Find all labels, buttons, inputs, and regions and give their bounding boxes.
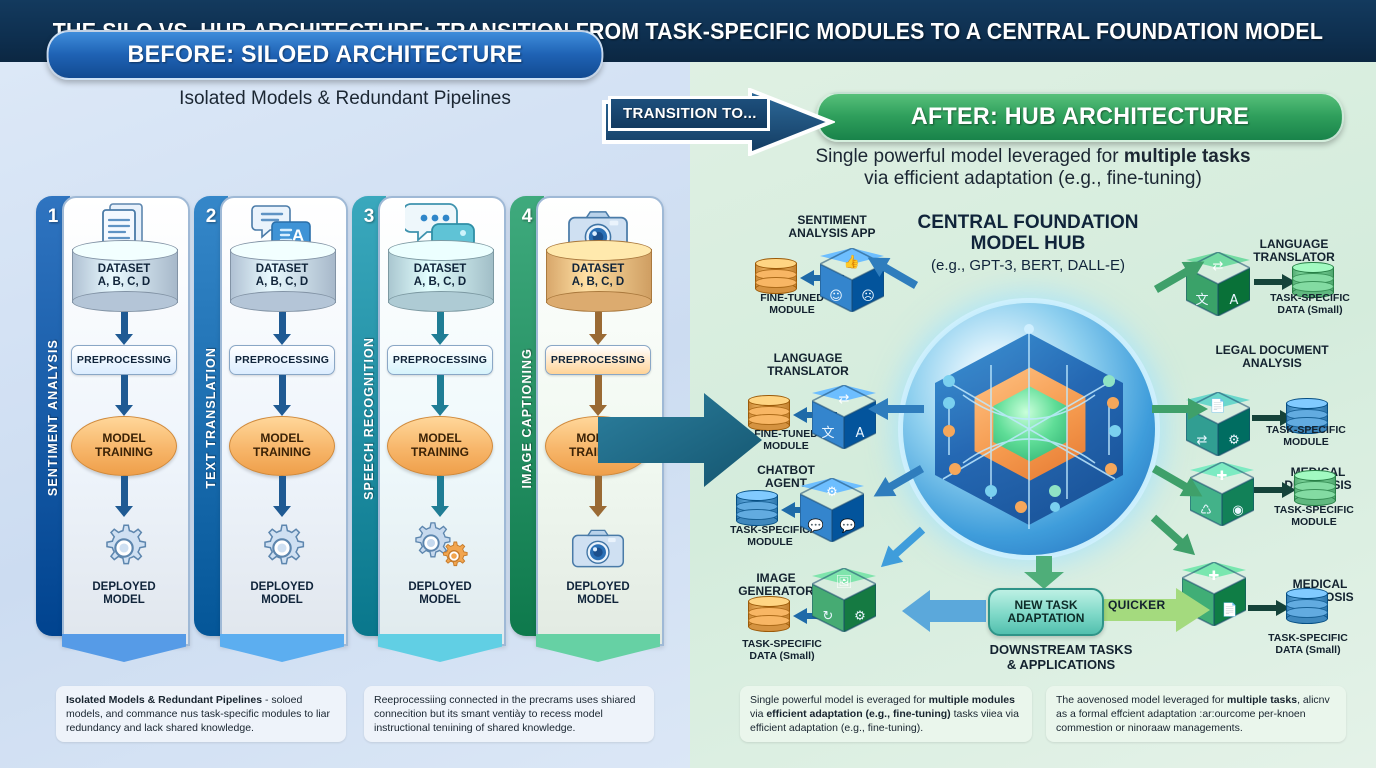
svg-text:⇄: ⇄ [1197, 433, 1208, 448]
task-artifact-cylinder-wrap [748, 596, 788, 632]
hub-subtitle: (e.g., GPT-3, BERT, DALL-E) [931, 257, 1125, 274]
task-caption-label: TASK-SPECIFICDATA (Small) [1252, 292, 1368, 316]
after-subtitle-line1a: Single powerful model leveraged for [815, 146, 1123, 167]
hub-radiating-arrow-6 [1152, 396, 1210, 422]
silo-vertical-label: TEXT TRANSLATION [204, 343, 218, 489]
svg-text:📄: 📄 [1222, 602, 1238, 618]
caption-bold: multiple tasks [1227, 694, 1297, 706]
hub-title-line1: CENTRAL FOUNDATION [918, 212, 1139, 233]
task-name-label: LEGAL DOCUMENT ANALYSIS [1212, 344, 1332, 371]
task-caption-label: TASK-SPECIFICMODULE [1256, 504, 1372, 528]
infographic-page: THE SILO VS. HUB ARCHITECTURE: TRANSITIO… [0, 0, 1376, 768]
task-cube-wrap: ⚙ 💬 💬 [800, 478, 864, 542]
task-name-label: LANGUAGE TRANSLATOR [748, 352, 868, 379]
svg-text:↻: ↻ [823, 609, 834, 624]
new-task-adaptation-box[interactable]: NEW TASK ADAPTATION [988, 588, 1104, 636]
task-name-label: SENTIMENT ANALYSIS APP [772, 214, 892, 241]
adaptation-down-arrow [1022, 556, 1066, 590]
task-caption-label: TASK-SPECIFICMODULE [1248, 424, 1364, 448]
after-subtitle-line2: via efficient adaptation (e.g., fine-tun… [690, 168, 1376, 190]
svg-text:👍: 👍 [844, 254, 860, 270]
chatbot-cube-icon[interactable]: ⚙ 💬 💬 [800, 478, 864, 542]
after-header-pill: AFTER: HUB ARCHITECTURE [816, 92, 1344, 142]
central-foundation-model-hub-icon[interactable] [903, 303, 1155, 555]
before-subtitle: Isolated Models & Redundant Pipelines [0, 88, 690, 110]
caption-bold: efficient adaptation (e.g., fine-tuning) [766, 708, 950, 720]
before-subtitle-text: Isolated Models & Redundant Pipelines [179, 88, 511, 109]
caption-bold: multiple modules [929, 694, 1015, 706]
svg-text:🖼: 🖼 [836, 575, 853, 590]
flow-arrow [431, 375, 449, 416]
flow-arrow [589, 312, 607, 345]
svg-text:💬: 💬 [840, 518, 856, 534]
task-cube-wrap: 🖼 ↻ ⚙ [812, 568, 876, 632]
svg-text:✚: ✚ [1217, 469, 1228, 484]
after-subtitle-line1b: multiple tasks [1124, 146, 1251, 167]
svg-text:✚: ✚ [1209, 569, 1220, 584]
left-caption-2-text: Reeprocessiing connected in the precrams… [374, 694, 635, 734]
new-task-line2: ADAPTATION [1008, 612, 1085, 625]
svg-text:⚙: ⚙ [826, 485, 838, 500]
task-artifact-cylinder[interactable] [736, 490, 776, 526]
deployed-model-label: DEPLOYEDMODEL [566, 581, 629, 607]
flow-arrow [431, 312, 449, 345]
dataset-cylinder[interactable]: DATASETA, B, C, D [72, 240, 176, 312]
after-header-label: AFTER: HUB ARCHITECTURE [911, 103, 1249, 131]
dataset-sub-label: A, B, C, D [256, 276, 308, 289]
caption-text: via [750, 708, 766, 720]
deployed-model-icon-2 [256, 517, 308, 579]
task-artifact-cylinder-wrap [1286, 588, 1326, 624]
svg-text:📄: 📄 [1210, 398, 1226, 414]
model-training-line1: MODEL [260, 432, 303, 446]
preprocessing-box[interactable]: PREPROCESSING [387, 345, 493, 375]
right-caption-1: Single powerful model is everaged for mu… [740, 686, 1032, 742]
adaptation-left-arrow [900, 588, 988, 634]
left-caption-1: Isolated Models & Redundant Pipelines - … [56, 686, 346, 742]
svg-text:⚙: ⚙ [854, 609, 866, 624]
model-training-oval[interactable]: MODELTRAINING [387, 416, 493, 476]
deployed-model-icon-3 [408, 517, 472, 579]
preprocessing-box[interactable]: PREPROCESSING [71, 345, 177, 375]
model-training-line2: TRAINING [95, 446, 153, 460]
image-gen-cube-icon[interactable]: 🖼 ↻ ⚙ [812, 568, 876, 632]
silo-vertical-label: IMAGE CAPTIONING [520, 344, 534, 489]
svg-text:A: A [1230, 293, 1239, 308]
svg-text:☹: ☹ [861, 289, 875, 304]
dataset-label: DATASET [414, 263, 467, 276]
model-training-line2: TRAINING [253, 446, 311, 460]
quicker-label: QUICKER [1108, 598, 1165, 612]
task-arrow [1254, 480, 1298, 500]
before-header-label: BEFORE: SILOED ARCHITECTURE [127, 41, 522, 69]
svg-text:文: 文 [821, 426, 834, 441]
task-artifact-cylinder-wrap [736, 490, 776, 526]
model-training-line1: MODEL [102, 432, 145, 446]
dataset-label: DATASET [98, 263, 151, 276]
deployed-model-icon-4 [571, 517, 625, 579]
silo-column-2[interactable]: TEXT TRANSLATION 2 A DATASETA, B, C, D P… [194, 196, 344, 662]
dataset-sub-label: A, B, C, D [414, 276, 466, 289]
flow-arrow [115, 375, 133, 416]
dataset-cylinder[interactable]: DATASETA, B, C, D [230, 240, 334, 312]
flow-arrow [273, 375, 291, 416]
flow-arrow [115, 476, 133, 517]
task-artifact-cylinder[interactable] [748, 596, 788, 632]
deployed-model-icon-1 [98, 517, 150, 579]
svg-text:A: A [856, 426, 865, 441]
dataset-sub-label: A, B, C, D [98, 276, 150, 289]
svg-text:☺: ☺ [829, 289, 843, 304]
dataset-cylinder[interactable]: DATASETA, B, C, D [388, 240, 492, 312]
dataset-cylinder[interactable]: DATASETA, B, C, D [546, 240, 650, 312]
svg-text:⇄: ⇄ [839, 392, 850, 407]
svg-text:⚙: ⚙ [1228, 433, 1240, 448]
silo-vertical-label: SENTIMENT ANALYSIS [46, 335, 60, 496]
model-training-oval[interactable]: MODELTRAINING [229, 416, 335, 476]
silo-column-3[interactable]: SPEECH RECOGNITION 3 DATASETA, B, C, D P… [352, 196, 502, 662]
silo-column-1[interactable]: SENTIMENT ANALYSIS 1 DATASETA, B, C, D P… [36, 196, 186, 662]
transition-label: TRANSITION TO... [608, 96, 770, 131]
svg-text:◉: ◉ [1232, 503, 1243, 518]
downstream-tasks-label: DOWNSTREAM TASKS & APPLICATIONS [930, 642, 1192, 673]
dataset-label: DATASET [256, 263, 309, 276]
task-artifact-cylinder-wrap [755, 258, 795, 294]
left-caption-1-bold: Isolated Models & Redundant Pipelines [66, 694, 262, 706]
hub-title-group: CENTRAL FOUNDATION MODEL HUB (e.g., GPT-… [878, 212, 1178, 274]
deployed-model-label: DEPLOYEDMODEL [250, 581, 313, 607]
flow-arrow [273, 312, 291, 345]
preprocessing-box[interactable]: PREPROCESSING [545, 345, 651, 375]
before-header-pill: BEFORE: SILOED ARCHITECTURE [47, 30, 604, 80]
model-training-line1: MODEL [418, 432, 461, 446]
flow-arrow [431, 476, 449, 517]
task-artifact-cylinder[interactable] [1294, 470, 1334, 506]
right-caption-2: The aovenosed model leveraged for multip… [1046, 686, 1346, 742]
task-artifact-cylinder[interactable] [755, 258, 795, 294]
task-caption-label: TASK-SPECIFIC DATA (Small) [726, 638, 838, 662]
dataset-sub-label: A, B, C, D [572, 276, 624, 289]
preprocessing-box[interactable]: PREPROCESSING [229, 345, 335, 375]
svg-text:♺: ♺ [1200, 503, 1212, 518]
model-training-line2: TRAINING [411, 446, 469, 460]
task-caption-label: TASK-SPECIFICDATA (Small) [1250, 632, 1366, 656]
deployed-model-label: DEPLOYEDMODEL [92, 581, 155, 607]
svg-text:文: 文 [1195, 293, 1208, 308]
panel-transition-arrow [596, 385, 766, 495]
task-name-label: LANGUAGE TRANSLATOR [1234, 238, 1354, 265]
hub-network-overlay [903, 303, 1155, 555]
flow-arrow [115, 312, 133, 345]
caption-text: The aovenosed model leveraged for [1056, 694, 1227, 706]
flow-arrow [273, 476, 291, 517]
caption-text: Single powerful model is everaged for [750, 694, 929, 706]
deployed-model-label: DEPLOYEDMODEL [408, 581, 471, 607]
dataset-label: DATASET [572, 263, 625, 276]
svg-text:💬: 💬 [808, 518, 824, 534]
hub-radiating-arrow-2 [866, 396, 924, 422]
model-training-oval[interactable]: MODELTRAINING [71, 416, 177, 476]
svg-text:⇄: ⇄ [1213, 259, 1224, 274]
silo-vertical-label: SPEECH RECOGNITION [362, 333, 376, 500]
task-artifact-cylinder-wrap [1294, 470, 1334, 506]
left-caption-2: Reeprocessiing connected in the precrams… [364, 686, 654, 742]
task-artifact-cylinder[interactable] [1286, 588, 1326, 624]
hub-title-line2: MODEL HUB [971, 233, 1086, 254]
